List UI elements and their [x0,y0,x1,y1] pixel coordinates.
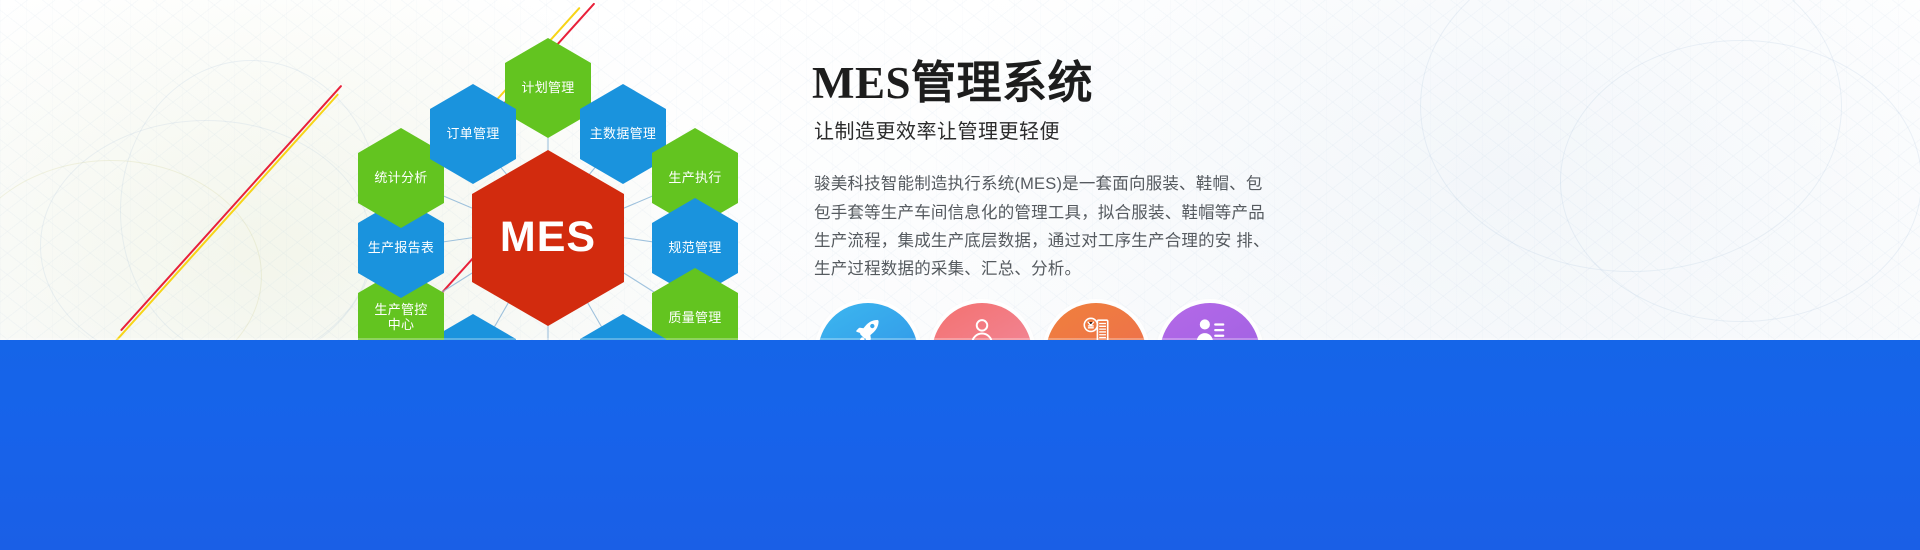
hex-label: 生产管控 中心 [368,303,433,333]
hex-label: 生产执行 [662,171,727,186]
hex-label: 计划管理 [515,81,580,96]
hex-label: 统计分析 [368,171,433,186]
bottom-blue-band [0,340,1920,550]
hex-label: 质量管理 [662,311,727,326]
hex-label: 订单管理 [440,127,505,142]
hex-center-label: MES [494,213,602,262]
bottom-band-highlight [0,338,1920,340]
page-subtitle: 让制造更效率让管理更轻便 [814,115,1712,144]
page-title: MES管理系统 [812,60,1712,107]
banner-stage: MES 计划管理 主数据管理 生产执行 规范管理 质量管理 仓库管理 车间 现场… [0,0,1920,550]
hex-label: 规范管理 [662,241,727,256]
hex-label: 生产报告表 [362,241,441,256]
hero-description: 骏美科技智能制造执行系统(MES)是一套面向服装、鞋帽、包包手套等生产车间信息化… [814,170,1276,284]
hex-label: 主数据管理 [584,127,663,142]
hero-text-panel: MES管理系统 让制造更效率让管理更轻便 骏美科技智能制造执行系统(MES)是一… [812,60,1712,284]
